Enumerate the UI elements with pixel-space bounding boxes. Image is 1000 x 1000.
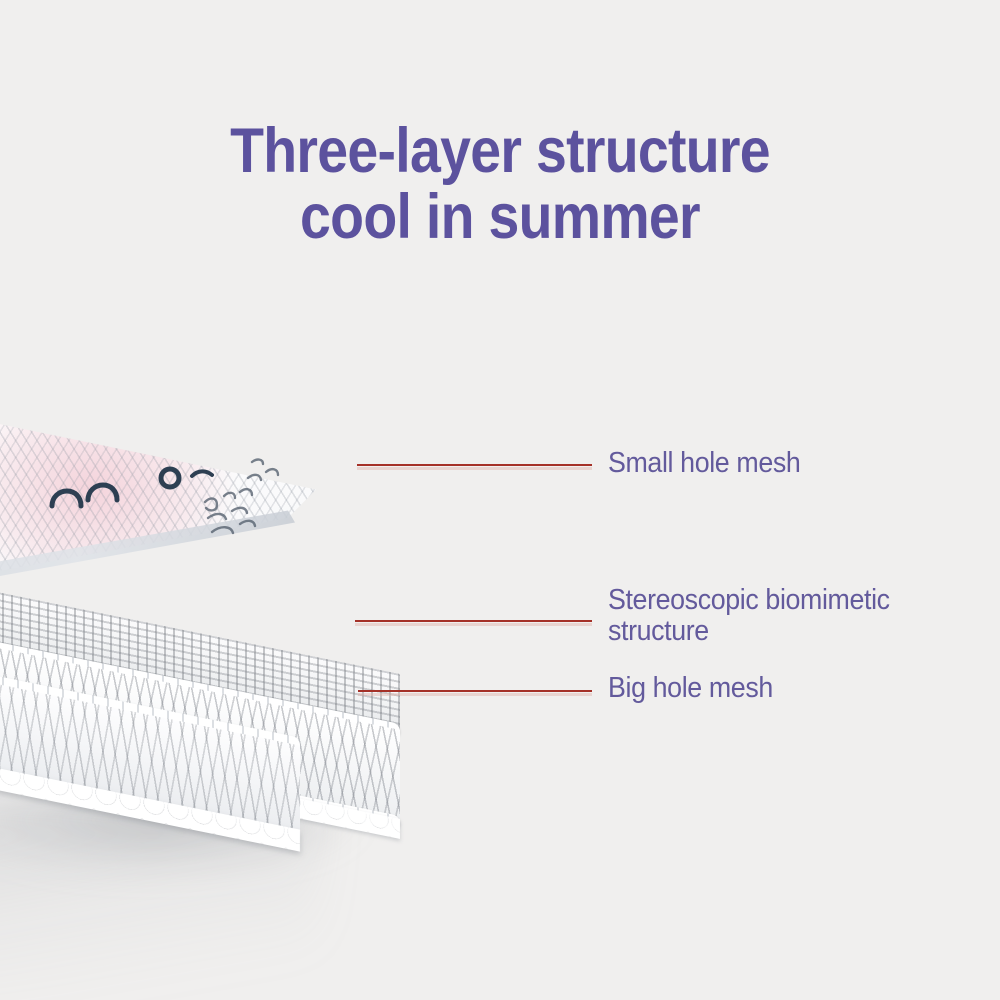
- page-title: Three-layer structure cool in summer: [0, 118, 1000, 250]
- leader-line-small-hole-mesh: [357, 464, 592, 466]
- product-photo: [0, 330, 600, 930]
- infographic-canvas: Three-layer structure cool in summer: [0, 0, 1000, 1000]
- title-line-1: Three-layer structure: [60, 118, 940, 184]
- leader-line-glow-1: [357, 467, 592, 470]
- leader-line-big-hole-mesh: [358, 690, 592, 692]
- callout-label-stereoscopic-biomimetic-structure: Stereoscopic biomimetic structure: [608, 585, 890, 647]
- layer-small-hole-mesh-fabric: [0, 350, 480, 680]
- leader-line-glow-3: [358, 693, 592, 696]
- leader-line-stereoscopic-biomimetic-structure: [355, 620, 592, 622]
- callout-label-big-hole-mesh: Big hole mesh: [608, 673, 773, 704]
- title-line-2: cool in summer: [60, 184, 940, 250]
- fabric-cartoon-print: [0, 350, 400, 650]
- callout-label-small-hole-mesh: Small hole mesh: [608, 448, 800, 479]
- leader-line-glow-2: [355, 623, 592, 626]
